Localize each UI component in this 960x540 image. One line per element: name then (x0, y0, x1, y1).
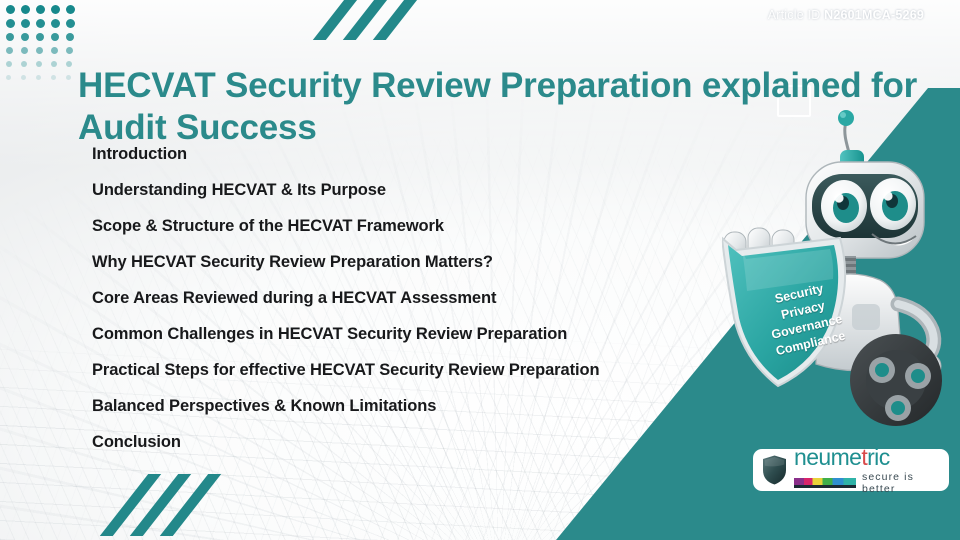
logo-color-bar (794, 478, 862, 488)
agenda-item-why-matters: Why HECVAT Security Review Preparation M… (92, 244, 732, 280)
logo-dark-bar (794, 485, 856, 488)
article-id-label: Article ID (768, 8, 821, 22)
agenda-item-balanced-perspectives: Balanced Perspectives & Known Limitation… (92, 388, 732, 424)
agenda-item-understanding: Understanding HECVAT & Its Purpose (92, 172, 732, 208)
diagonal-stripes-bottom (124, 474, 244, 534)
agenda-list: Introduction Understanding HECVAT & Its … (92, 136, 732, 460)
agenda-item-core-areas: Core Areas Reviewed during a HECVAT Asse… (92, 280, 732, 316)
dot-grid-decoration (6, 5, 81, 89)
agenda-item-practical-steps: Practical Steps for effective HECVAT Sec… (92, 352, 732, 388)
diagonal-stripes-top (330, 0, 450, 40)
logo-rainbow-bar (794, 478, 856, 485)
robot-mascot-illustration (722, 108, 960, 430)
logo-subline: secure is better (794, 471, 940, 495)
neumetric-logo[interactable]: neumetric secure is better (753, 449, 949, 491)
agenda-item-common-challenges: Common Challenges in HECVAT Security Rev… (92, 316, 732, 352)
article-id: Article ID N2601MCA-5269 (768, 8, 924, 22)
agenda-item-scope-structure: Scope & Structure of the HECVAT Framewor… (92, 208, 732, 244)
logo-word-part1: neume (794, 444, 861, 470)
logo-word-part2: ric (867, 444, 889, 470)
article-id-value: N2601MCA-5269 (824, 8, 924, 22)
logo-shield-icon (762, 455, 787, 485)
logo-wordmark: neumetric (794, 446, 940, 468)
logo-wordmark-block: neumetric secure is better (794, 446, 940, 495)
agenda-item-introduction: Introduction (92, 136, 732, 172)
logo-tagline: secure is better (862, 471, 940, 495)
slide-canvas: Article ID N2601MCA-5269 HECVAT Security… (0, 0, 960, 540)
agenda-item-conclusion: Conclusion (92, 424, 732, 460)
